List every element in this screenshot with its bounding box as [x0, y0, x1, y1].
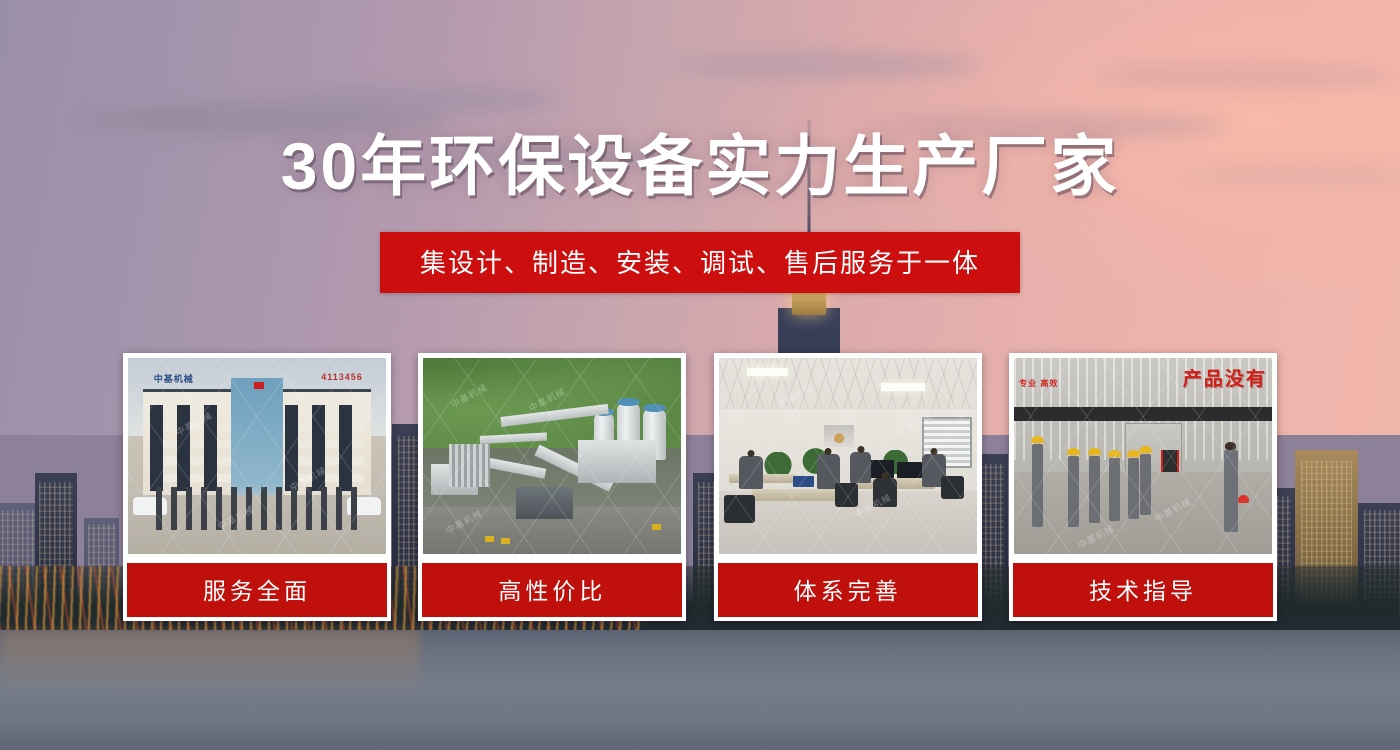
card-caption-system: 体系完善 — [714, 559, 982, 621]
factory-workers-photo[interactable]: 产品没有 专业 高效 中基机械 中基机械 — [1014, 358, 1272, 554]
card-caption-service: 服务全面 — [123, 559, 391, 621]
cloud — [280, 87, 560, 113]
office-worker — [850, 452, 871, 483]
water-reflection — [0, 630, 420, 750]
feature-card-service[interactable]: 中基机械 4113456 中基机械 中基机械 中基机械 服务全面 — [123, 353, 391, 621]
office-chair — [941, 476, 964, 500]
flag-icon — [254, 382, 264, 389]
feature-card-guidance[interactable]: 产品没有 专业 高效 中基机械 中基机械 技术指导 — [1009, 353, 1277, 621]
office-worker — [873, 478, 896, 507]
ceiling-light — [881, 383, 925, 391]
building-sign-text: 中基机械 — [154, 372, 194, 385]
cloud — [1092, 61, 1400, 91]
card-caption-guidance: 技术指导 — [1009, 559, 1277, 621]
facade-window-strip — [1014, 407, 1272, 421]
office-worker — [739, 456, 762, 489]
ceiling-grid — [719, 358, 977, 409]
factory-worker — [1128, 458, 1139, 519]
feature-card-row: 中基机械 4113456 中基机械 中基机械 中基机械 服务全面 — [123, 353, 1277, 621]
office-chair — [724, 495, 755, 522]
excavator — [652, 524, 661, 530]
subtitle-banner: 集设计、制造、安装、调试、售后服务于一体 — [380, 232, 1020, 293]
factory-worker — [1068, 456, 1079, 527]
factory-worker — [1109, 458, 1120, 521]
office-interior-photo[interactable]: 中基机械 中基机械 中基机械 — [719, 358, 977, 554]
wall-decal — [824, 425, 854, 447]
subtitle-banner-wrap: 集设计、制造、安装、调试、售后服务于一体 — [0, 232, 1400, 293]
office-chair — [835, 483, 858, 507]
staff-lineup — [156, 487, 357, 530]
plant-shed — [516, 487, 573, 518]
excavator — [485, 536, 494, 542]
card-caption-value: 高性价比 — [418, 559, 686, 621]
preheater-tower — [449, 444, 490, 487]
feature-card-system[interactable]: 中基机械 中基机械 中基机械 体系完善 — [714, 353, 982, 621]
office-desk — [752, 489, 840, 501]
page-title: 30年环保设备实力生产厂家 — [0, 132, 1400, 201]
factory-slogan-large: 产品没有 — [1183, 364, 1267, 391]
company-office-building-photo[interactable]: 中基机械 4113456 中基机械 中基机械 中基机械 — [128, 358, 386, 554]
laptop — [793, 476, 814, 488]
industrial-plant-aerial-photo[interactable]: 中基机械 中基机械 中基机械 — [423, 358, 681, 554]
ceiling-light — [747, 368, 788, 376]
building-phone-text: 4113456 — [321, 372, 363, 382]
red-helmet-icon — [1238, 495, 1249, 503]
factory-worker — [1089, 456, 1100, 523]
supervisor — [1224, 450, 1238, 532]
factory-worker — [1140, 454, 1151, 515]
feature-card-value[interactable]: 中基机械 中基机械 中基机械 高性价比 — [418, 353, 686, 621]
factory-worker — [1032, 444, 1043, 526]
river-water — [0, 630, 1400, 750]
computer-monitor — [897, 462, 923, 478]
plant-shed — [578, 440, 655, 483]
excavator — [501, 538, 510, 544]
promo-banner: 30年环保设备实力生产厂家 集设计、制造、安装、调试、售后服务于一体 中基机械 … — [0, 0, 1400, 750]
factory-slogan-small: 专业 高效 — [1019, 378, 1058, 390]
